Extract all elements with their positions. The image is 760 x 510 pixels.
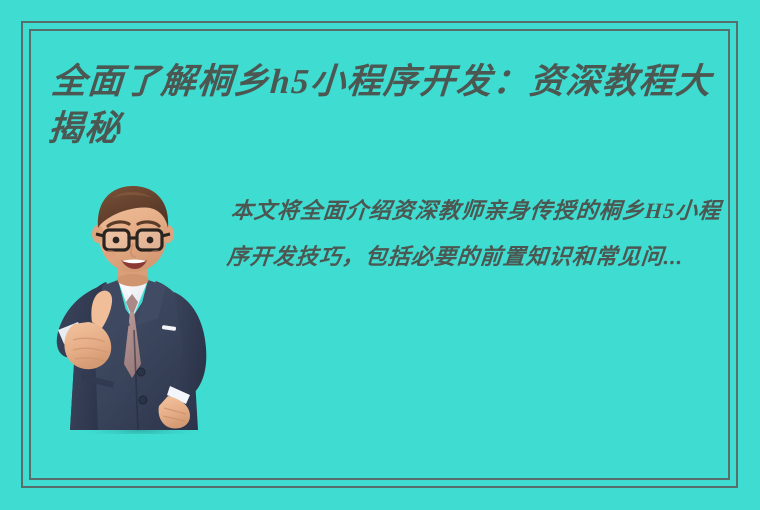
jacket-button-bottom xyxy=(139,396,147,404)
cheek-right xyxy=(150,250,162,258)
card-summary: 本文将全面介绍资深教师亲身传授的桐乡H5小程序开发技巧，包括必要的前置知识和常见… xyxy=(225,188,725,280)
glasses-temple-left xyxy=(96,234,104,236)
glasses-temple-right xyxy=(162,234,170,236)
article-card: 全面了解桐乡h5小程序开发：资深教程大揭秘 本文将全面介绍资深教师亲身传授的桐乡… xyxy=(0,0,760,510)
eye-right xyxy=(147,237,154,244)
card-title: 全面了解桐乡h5小程序开发：资深教程大揭秘 xyxy=(46,58,725,152)
eye-left xyxy=(113,237,120,244)
cheek-left xyxy=(104,250,116,258)
jacket-button-top xyxy=(137,368,145,376)
businessman-thumbs-up-illustration xyxy=(40,168,230,434)
neck-shadow xyxy=(117,274,149,286)
